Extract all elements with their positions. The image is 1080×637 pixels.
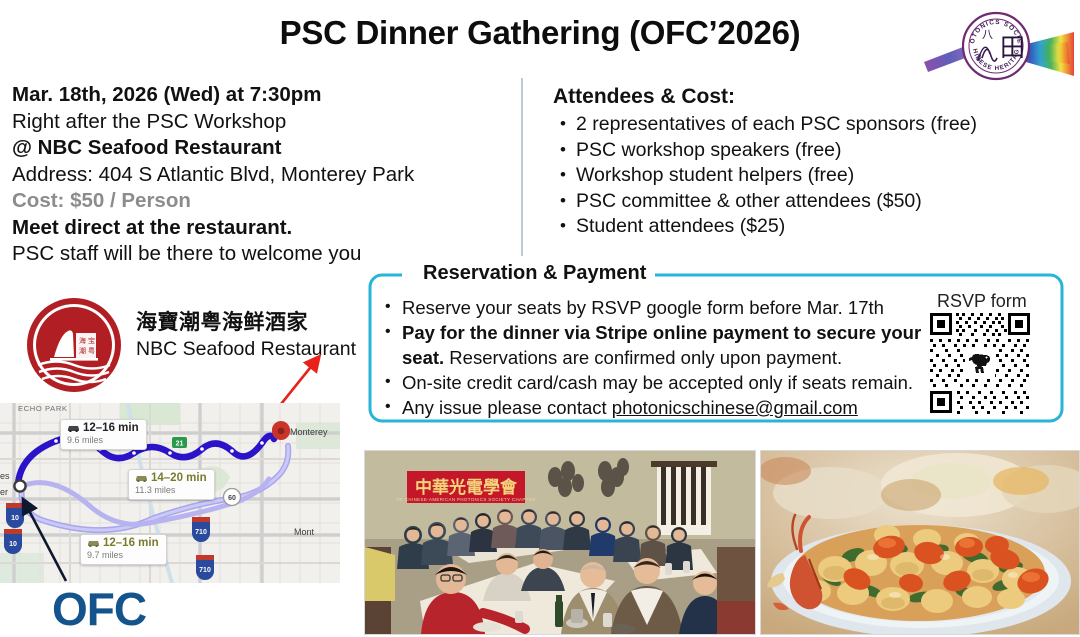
photonics-society-logo: PHOTONICS SOCIETY CHINESE HERITAGE OF 田 … <box>916 2 1076 90</box>
attendees-list: 2 representatives of each PSC sponsors (… <box>553 112 1073 240</box>
reservation-item-text: Any issue please contact <box>402 397 612 418</box>
reservation-item-text: On-site credit card/cash may be accepted… <box>402 372 913 393</box>
event-meet-line: Meet direct at the restaurant. <box>12 215 512 242</box>
list-item: PSC workshop speakers (free) <box>553 138 1073 164</box>
svg-text:八: 八 <box>982 28 993 41</box>
attendees-heading: Attendees & Cost: <box>553 85 1073 109</box>
nbc-seafood-logo: 海宝 潮粤 <box>24 295 124 395</box>
seafood-dish-photo <box>760 450 1080 635</box>
restaurant-name-cn: 海寶潮粤海鲜酒家 <box>136 309 356 336</box>
svg-text:田: 田 <box>1000 33 1025 62</box>
psc-group-dinner-photo: 中華光電學會 OF CHINESE-AMERICAN PHOTONICS SOC… <box>364 450 756 635</box>
svg-text:710: 710 <box>195 529 207 536</box>
rsvp-qr-code[interactable] <box>928 311 1032 415</box>
event-cost-line: Cost: $50 / Person <box>12 188 512 215</box>
dinosaur-icon <box>965 349 995 377</box>
list-item: Reserve your seats by RSVP google form b… <box>380 295 940 320</box>
route-label-primary[interactable]: 12–16 min 9.6 miles <box>60 419 147 450</box>
svg-text:Monterey: Monterey <box>290 427 328 437</box>
attendees-section: Attendees & Cost: 2 representatives of e… <box>553 85 1073 240</box>
list-item: PSC committee & other attendees ($50) <box>553 189 1073 215</box>
reservation-legend: Reservation & Payment <box>414 262 655 285</box>
svg-text:海: 海 <box>79 336 86 345</box>
banner-text-cn: 中華光電學會 <box>415 477 518 498</box>
contact-email-link[interactable]: photonicschinese@gmail.com <box>612 397 858 418</box>
car-icon <box>87 538 100 547</box>
svg-text:粤: 粤 <box>88 346 95 355</box>
svg-text:宝: 宝 <box>88 336 95 345</box>
vertical-divider <box>521 78 523 256</box>
list-item: Workshop student helpers (free) <box>553 163 1073 189</box>
route-time: 12–16 min <box>83 422 139 434</box>
reservation-list: Reserve your seats by RSVP google form b… <box>380 295 940 420</box>
event-venue-line: @ NBC Seafood Restaurant <box>12 135 512 162</box>
svg-text:潮: 潮 <box>79 346 86 355</box>
svg-text:Mont: Mont <box>294 527 315 537</box>
svg-text:er: er <box>0 487 8 497</box>
svg-text:ECHO PARK: ECHO PARK <box>18 404 68 413</box>
route-distance: 11.3 miles <box>135 485 207 496</box>
list-item: On-site credit card/cash may be accepted… <box>380 370 940 395</box>
list-item: Pay for the dinner via Stripe online pay… <box>380 320 940 370</box>
event-address-line: Address: 404 S Atlantic Blvd, Monterey P… <box>12 162 512 189</box>
route-time: 12–16 min <box>103 537 159 549</box>
qr-code-label: RSVP form <box>937 291 1027 312</box>
list-item: Any issue please contact photonicschines… <box>380 395 940 420</box>
event-context-line: Right after the PSC Workshop <box>12 109 512 136</box>
route-time: 14–20 min <box>151 472 207 484</box>
route-distance: 9.6 miles <box>67 435 139 446</box>
list-item: Student attendees ($25) <box>553 214 1073 240</box>
list-item: 2 representatives of each PSC sponsors (… <box>553 112 1073 138</box>
route-label-alt2[interactable]: 12–16 min 9.7 miles <box>80 534 167 565</box>
svg-text:710: 710 <box>199 567 211 574</box>
car-icon <box>135 473 148 482</box>
event-details: Mar. 18th, 2026 (Wed) at 7:30pm Right af… <box>12 82 512 268</box>
route-label-alt1[interactable]: 14–20 min 11.3 miles <box>128 469 215 500</box>
event-date-line: Mar. 18th, 2026 (Wed) at 7:30pm <box>12 82 512 109</box>
svg-text:21: 21 <box>176 441 184 448</box>
svg-text:es: es <box>0 471 10 481</box>
svg-text:OF CHINESE-AMERICAN PHOTONICS: OF CHINESE-AMERICAN PHOTONICS SOCIETY CH… <box>396 497 535 502</box>
reservation-item-text: Reservations are confirmed only upon pay… <box>444 347 842 368</box>
reservation-item-text: Reserve your seats by RSVP google form b… <box>402 297 884 318</box>
ofc-logo: OFC <box>52 586 146 632</box>
ofc-pointer-arrow <box>14 495 84 587</box>
route-distance: 9.7 miles <box>87 550 159 561</box>
svg-text:60: 60 <box>228 495 236 502</box>
car-icon <box>67 423 80 432</box>
